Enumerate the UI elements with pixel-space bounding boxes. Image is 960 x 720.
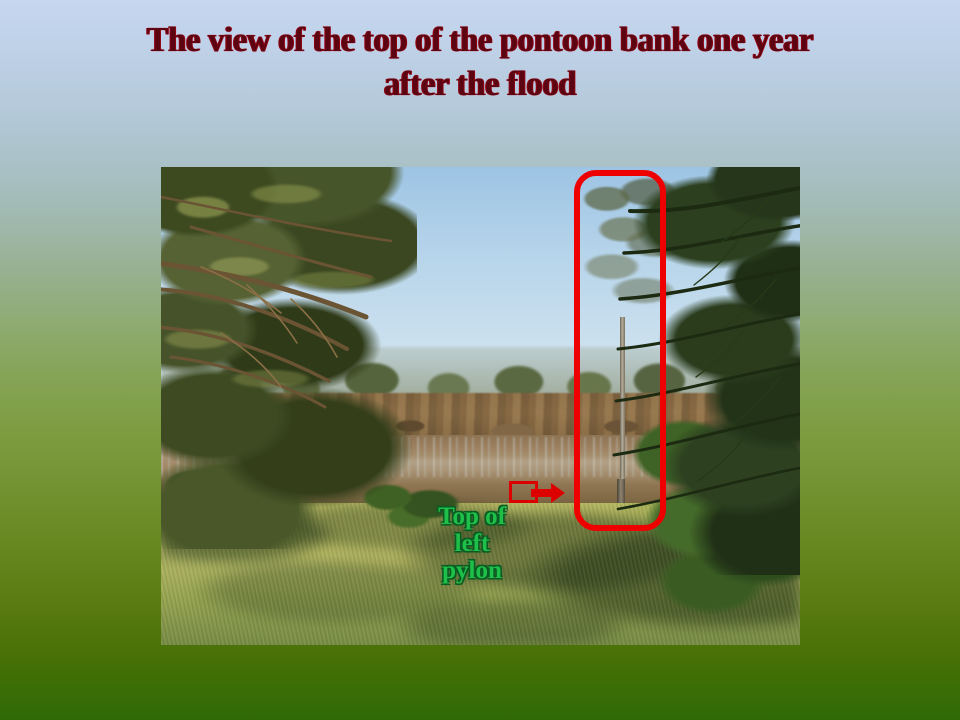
riverbank-photo: Top of left pylon (161, 167, 800, 645)
tree-highlight-rectangle (574, 170, 666, 531)
slide-canvas: { "slide": { "title": "The view of the t… (0, 0, 960, 720)
pylon-caption: Top of left pylon (397, 503, 547, 584)
slide-title: The view of the top of the pontoon bank … (71, 18, 889, 106)
left-tree-branches (161, 167, 441, 497)
pylon-pointer-arrow (531, 483, 565, 503)
